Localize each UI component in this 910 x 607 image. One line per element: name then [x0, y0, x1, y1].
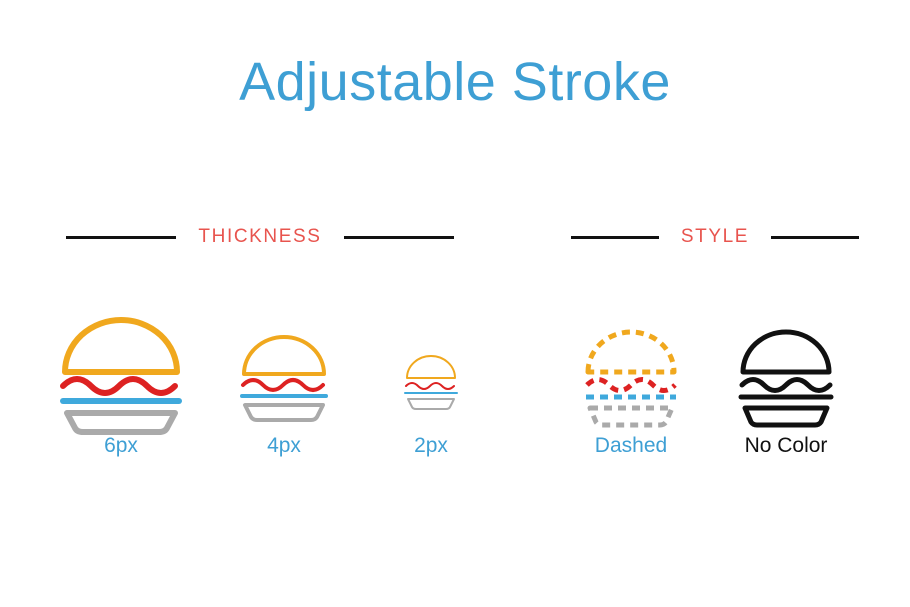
section-rule-left	[571, 236, 659, 239]
hamburger-icon-nocolor	[738, 296, 834, 416]
bottom-bun-shape	[408, 399, 454, 409]
sample-caption-2px: 2px	[414, 434, 448, 458]
top-bun-shape	[244, 337, 324, 374]
top-bun-shape	[407, 356, 455, 378]
sample-caption-dashed: Dashed	[595, 434, 667, 458]
section-rule-right	[771, 236, 859, 239]
lettuce-wave-shape	[587, 380, 675, 391]
sample-6px[interactable]: 6px	[42, 296, 200, 458]
page-title: Adjustable Stroke	[0, 50, 910, 114]
sample-2px[interactable]: 2px	[380, 296, 482, 458]
sample-dashed[interactable]: Dashed	[565, 296, 697, 458]
section-rule-left	[66, 236, 176, 239]
sample-caption-nocolor: No Color	[745, 434, 828, 458]
bottom-bun-shape	[590, 408, 672, 425]
hamburger-icon-2px	[403, 296, 459, 416]
hamburger-icon	[738, 296, 834, 416]
lettuce-wave-shape	[243, 380, 323, 390]
top-bun-shape	[588, 332, 674, 372]
section-rule-right	[344, 236, 454, 239]
hamburger-icon	[239, 296, 329, 416]
section-header-style: STYLE	[570, 224, 860, 250]
top-bun-shape	[65, 320, 177, 372]
lettuce-wave-shape	[406, 383, 454, 389]
sample-caption-6px: 6px	[104, 434, 138, 458]
section-header-thickness: THICKNESS	[55, 224, 465, 250]
section-label-thickness: THICKNESS	[198, 226, 321, 248]
bottom-bun-shape	[745, 408, 827, 425]
sample-caption-4px: 4px	[267, 434, 301, 458]
hamburger-icon	[403, 296, 459, 416]
bottom-bun-shape	[67, 413, 175, 432]
hamburger-icon-dashed	[583, 296, 679, 416]
hamburger-icon-6px	[59, 296, 183, 416]
hamburger-icon-4px	[239, 296, 329, 416]
hamburger-icon	[583, 296, 679, 416]
lettuce-wave-shape	[63, 379, 175, 393]
top-bun-shape	[743, 332, 829, 372]
sample-4px[interactable]: 4px	[222, 296, 346, 458]
section-label-style: STYLE	[681, 226, 749, 248]
hamburger-icon	[59, 296, 183, 416]
lettuce-wave-shape	[742, 380, 830, 391]
bottom-bun-shape	[245, 405, 323, 420]
sample-nocolor[interactable]: No Color	[720, 296, 852, 458]
